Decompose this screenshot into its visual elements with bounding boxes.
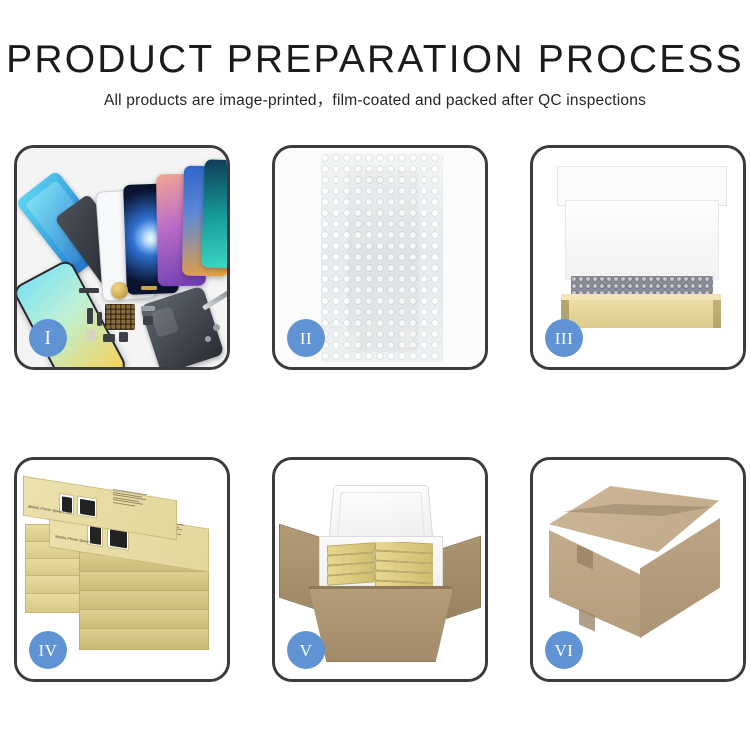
process-step-grid: I II bbox=[0, 0, 750, 750]
part-chip bbox=[143, 316, 153, 325]
product-preparation-infographic: PRODUCT PREPARATION PROCESS All products… bbox=[0, 0, 750, 750]
stacked-box bbox=[79, 571, 209, 592]
box-window bbox=[77, 495, 97, 518]
part-chip bbox=[87, 330, 95, 341]
bubble-wrap-bag bbox=[321, 154, 443, 362]
step-panel-2[interactable]: II bbox=[272, 145, 488, 370]
step-panel-4[interactable]: Mobile Phone Spare Parts Mobile Phone Sp… bbox=[14, 457, 230, 682]
part-chip bbox=[213, 324, 220, 331]
stacked-box bbox=[79, 590, 209, 611]
circuit-board-part bbox=[105, 304, 135, 330]
part-chip bbox=[141, 286, 157, 290]
part-chip bbox=[141, 306, 155, 311]
carton-body bbox=[309, 588, 453, 662]
step-panel-5[interactable]: V bbox=[272, 457, 488, 682]
step-badge-5: V bbox=[287, 631, 325, 669]
part-chip bbox=[119, 332, 128, 342]
part-chip bbox=[103, 334, 115, 342]
step-badge-2: II bbox=[287, 319, 325, 357]
part-chip bbox=[205, 336, 211, 342]
step-panel-6[interactable]: VI bbox=[530, 457, 746, 682]
step-badge-1: I bbox=[29, 319, 67, 357]
part-chip bbox=[79, 288, 99, 293]
phone-teal-display bbox=[201, 159, 227, 268]
stacked-box bbox=[79, 628, 209, 650]
box-tray-body bbox=[561, 300, 721, 328]
stacked-box bbox=[79, 609, 209, 630]
step-panel-1[interactable]: I bbox=[14, 145, 230, 370]
gold-component-icon bbox=[111, 282, 128, 299]
box-lid-panel bbox=[565, 200, 719, 280]
part-chip bbox=[97, 312, 102, 326]
step-panel-3[interactable]: III bbox=[530, 145, 746, 370]
packed-yellow-boxes bbox=[327, 542, 433, 590]
step-badge-6: VI bbox=[545, 631, 583, 669]
step-badge-3: III bbox=[545, 319, 583, 357]
part-chip bbox=[87, 308, 93, 324]
step-badge-4: IV bbox=[29, 631, 67, 669]
